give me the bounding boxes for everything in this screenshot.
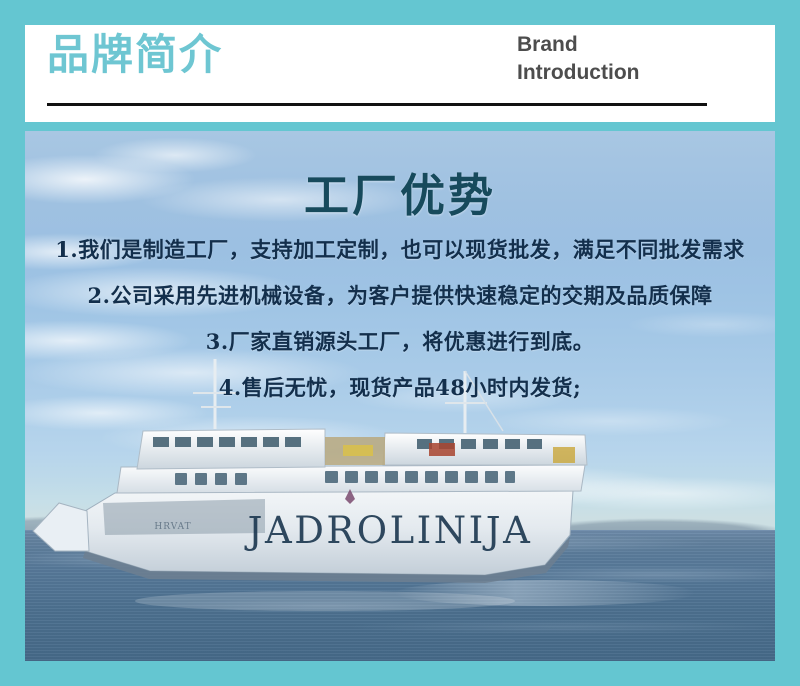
- page-title-chinese: 品牌简介: [47, 29, 223, 82]
- page-title-english: Brand Introduction: [517, 31, 757, 86]
- advantage-bullet: 3.厂家直销源头工厂，将优惠进行到底。: [25, 319, 775, 365]
- factory-advantage-photo-panel: JADROLINIJA HRVAT 工厂优势 1.我们是制造工厂，支持加工定制，…: [25, 131, 775, 661]
- header-band: 品牌简介 Brand Introduction: [0, 0, 800, 122]
- header-card: 品牌简介 Brand Introduction: [25, 25, 775, 122]
- page-title-english-line1: Brand: [517, 31, 757, 59]
- sea-shadow-patch: [280, 530, 475, 578]
- advantage-bullet: 2.公司采用先进机械设备，为客户提供快速稳定的交期及品质保障: [25, 273, 775, 319]
- advantage-bullet: 1.我们是制造工厂，支持加工定制，也可以现货批发，满足不同批发需求: [25, 227, 775, 273]
- page-title-english-line2: Introduction: [517, 59, 757, 87]
- photo-headline: 工厂优势: [25, 159, 775, 224]
- advantage-bullet: 4.售后无忧，现货产品48小时内发货;: [25, 365, 775, 411]
- advantage-bullet-list: 1.我们是制造工厂，支持加工定制，也可以现货批发，满足不同批发需求 2.公司采用…: [25, 227, 775, 411]
- brand-introduction-banner: 品牌简介 Brand Introduction: [0, 0, 800, 686]
- title-underline-rule: [47, 103, 707, 106]
